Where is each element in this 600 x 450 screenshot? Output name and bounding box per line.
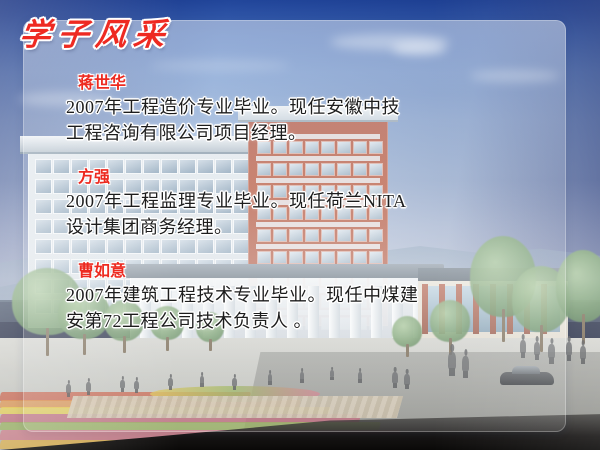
list-item: 蒋世华 2007年工程造价专业毕业。现任安徽中技 工程咨询有限公司项目经理。 xyxy=(66,74,536,146)
person-body xyxy=(580,346,586,359)
person xyxy=(580,346,586,364)
alumnus-name: 蒋世华 xyxy=(78,74,536,94)
alumnus-description: 2007年建筑工程技术专业毕业。现任中煤建 安第72工程公司技术负责人 。 xyxy=(66,282,536,334)
person-body xyxy=(566,342,572,355)
alumnus-description: 2007年工程监理专业毕业。现任荷兰NITA 设计集团商务经理。 xyxy=(66,188,536,240)
alumnus-description: 2007年工程造价专业毕业。现任安徽中技 工程咨询有限公司项目经理。 xyxy=(66,94,536,146)
list-item: 曹如意 2007年建筑工程技术专业毕业。现任中煤建 安第72工程公司技术负责人 … xyxy=(66,262,536,334)
alumnus-name: 方强 xyxy=(78,168,536,188)
text-line: 2007年工程监理专业毕业。现任荷兰NITA xyxy=(66,188,536,214)
text-line: 工程咨询有限公司项目经理。 xyxy=(66,120,536,146)
text-line: 2007年建筑工程技术专业毕业。现任中煤建 xyxy=(66,282,536,308)
person-legs xyxy=(581,358,586,364)
person-legs xyxy=(567,355,572,361)
presentation-slide: 学子风采 蒋世华 2007年工程造价专业毕业。现任安徽中技 工程咨询有限公司项目… xyxy=(0,0,600,450)
text-line: 安第72工程公司技术负责人 。 xyxy=(66,308,536,334)
person xyxy=(566,342,572,361)
text-line: 设计集团商务经理。 xyxy=(66,214,536,240)
alumni-entries-list: 蒋世华 2007年工程造价专业毕业。现任安徽中技 工程咨询有限公司项目经理。 方… xyxy=(66,74,536,334)
list-item: 方强 2007年工程监理专业毕业。现任荷兰NITA 设计集团商务经理。 xyxy=(66,168,536,240)
alumnus-name: 曹如意 xyxy=(78,262,536,282)
page-title: 学子风采 xyxy=(17,9,175,54)
text-line: 2007年工程造价专业毕业。现任安徽中技 xyxy=(66,94,536,120)
